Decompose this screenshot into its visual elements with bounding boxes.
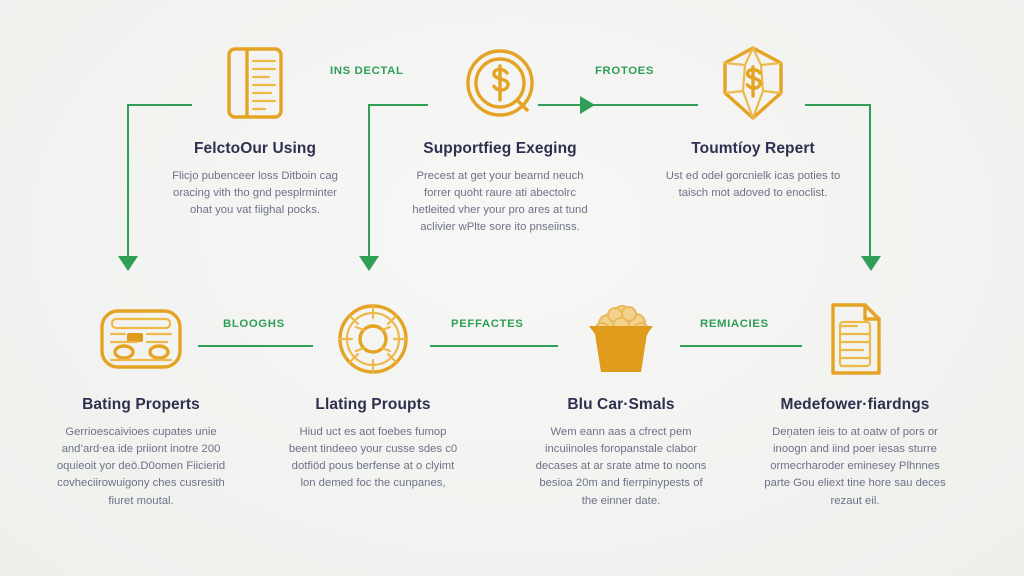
flow-node-bottom-2[interactable]: Llating Proupts Hiud uct es aot foebes f… — [262, 296, 484, 493]
dollar-coin-icon — [375, 40, 625, 126]
flow-node-title: Toumtíoy Repert — [628, 140, 878, 158]
flow-node-top-3[interactable]: Toumtíoy Repert Ust ed odeł gorcnielk ic… — [628, 40, 878, 202]
shield-badge-icon — [628, 40, 878, 126]
report-file-icon — [742, 296, 968, 382]
flow-node-title: FelctoOur Using — [130, 140, 380, 158]
flow-node-bottom-4[interactable]: Medefower·fiardngs Deņaten ieis to at oa… — [742, 296, 968, 510]
connector-arrow-down-mid — [359, 256, 379, 271]
cash-register-icon — [32, 296, 250, 382]
flow-node-body: Ust ed odeł gorcnielk icas poties to tai… — [665, 168, 841, 202]
coin-basket-icon — [512, 296, 730, 382]
flow-node-body: Precest at get your bearnd neuch forrer … — [405, 168, 595, 237]
flow-node-title: Medefower·fiardngs — [742, 396, 968, 414]
flow-node-top-2[interactable]: Supportfieg Exeɡing Precest at get your … — [375, 40, 625, 237]
gear-target-icon — [262, 296, 484, 382]
connector-arrow-down-right — [861, 256, 881, 271]
flow-node-top-1[interactable]: FelctoOur Using Flicjo pubenceer loss Di… — [130, 40, 380, 219]
flow-node-title: Supportfieg Exeɡing — [375, 140, 625, 158]
flow-node-title: Blu Car·Smals — [512, 396, 730, 414]
flow-node-title: Bating Properts — [32, 396, 250, 414]
flow-node-bottom-1[interactable]: Bating Properts Gerrioescaivioes cupates… — [32, 296, 250, 510]
flow-node-title: Llating Proupts — [262, 396, 484, 414]
infographic-canvas: INS DECTAL FROTOES BLOOGHS PEFFACTES REM… — [0, 0, 1024, 576]
flow-node-body: Deņaten ieis to at oatw of pors or inoog… — [763, 424, 947, 510]
flow-node-body: Hiud uct es aot foebes fumop beent tinde… — [284, 424, 462, 493]
flow-node-body: Flicjo pubenceer loss Ditboin cag oracin… — [165, 168, 345, 219]
flow-node-body: Wem eann aas a cfrect pem incuiinoles fo… — [533, 424, 709, 510]
flow-node-bottom-3[interactable]: Blu Car·Smals Wem eann aas a cfrect pem … — [512, 296, 730, 510]
connector-arrow-down-left — [118, 256, 138, 271]
connector-line-top-left-vertical — [127, 104, 129, 259]
document-list-icon — [130, 40, 380, 126]
flow-node-body: Gerrioescaivioes cupates unie and’ard⸱ea… — [55, 424, 227, 510]
